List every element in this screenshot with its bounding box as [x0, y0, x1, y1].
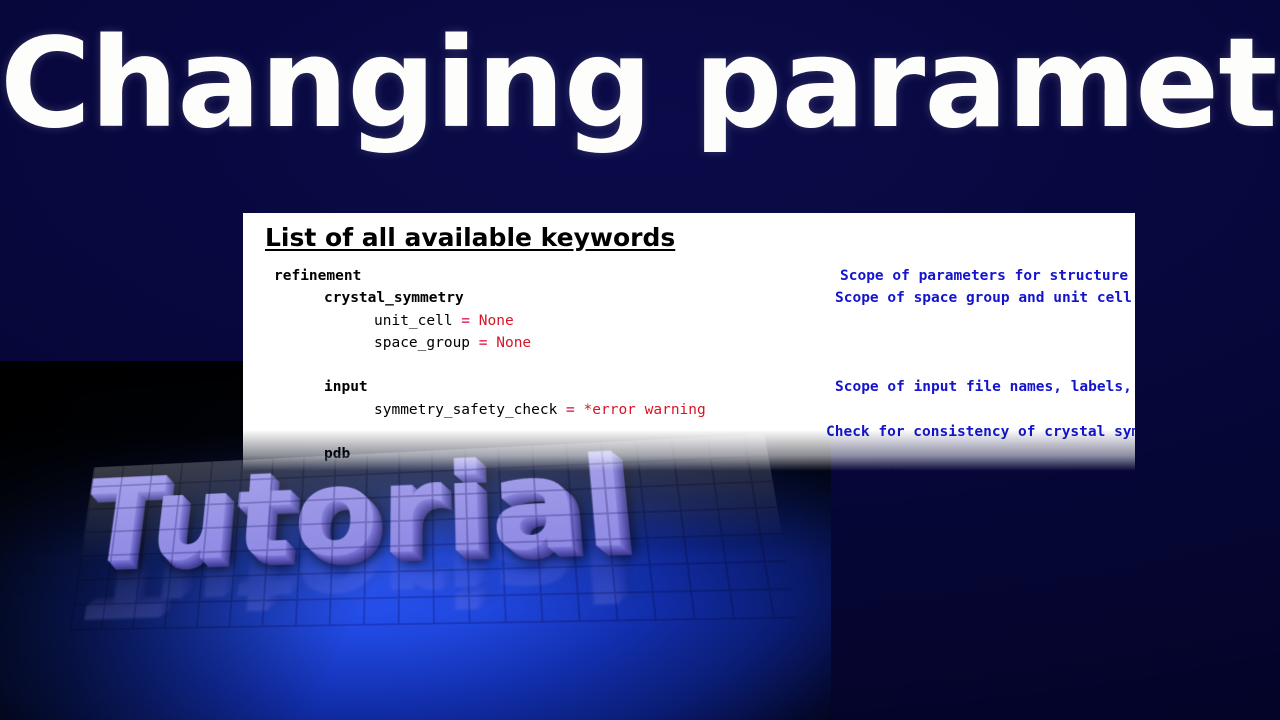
keyword-equals-sign: = — [503, 469, 529, 471]
keyword-row: space_group = None — [243, 332, 1135, 354]
keyword-value: *error warning — [584, 402, 706, 418]
keyword-entry: input — [324, 376, 368, 398]
keywords-screenshot-box: List of all available keywords refinemen… — [243, 213, 1135, 471]
keyword-name: space_group — [374, 335, 470, 351]
page-title: Changing parameters — [0, 22, 1280, 146]
keyword-description: Check for consistency of crystal symmetr… — [826, 421, 1135, 443]
keyword-row: symmetry_safety_check = *error warning — [243, 399, 1135, 421]
slide-root: Tutorial Tutorial Changing parameters Li… — [0, 0, 1280, 720]
keywords-heading: List of all available keywords — [265, 223, 675, 252]
keyword-equals-sign: = — [453, 313, 479, 329]
keyword-name: crystal_symmetry — [324, 290, 464, 306]
keyword-row: unit_cell = None — [243, 310, 1135, 332]
keyword-entry: unit_cell = None — [374, 310, 514, 332]
keyword-description: Scope of space group and unit cell param… — [835, 287, 1135, 309]
keyword-name: refinement — [274, 268, 361, 284]
keyword-row: Check for consistency of crystal symmetr… — [243, 421, 1135, 443]
keyword-entry: pdb — [324, 443, 350, 465]
keyword-description: Scope of input file names, labels, proce… — [835, 376, 1135, 398]
keyword-row: file_name = NoneModel file(s) name (PDB) — [243, 466, 1135, 471]
keyword-name: symmetry_safety_check — [374, 402, 557, 418]
keyword-equals-sign: = — [557, 402, 583, 418]
keyword-description: Scope of parameters for structure refine… — [840, 265, 1135, 287]
keyword-entry: symmetry_safety_check = *error warning — [374, 399, 706, 421]
keyword-value: None — [529, 469, 564, 471]
keyword-equals-sign: = — [470, 335, 496, 351]
keyword-entry: crystal_symmetry — [324, 287, 464, 309]
keyword-name: file_name — [424, 469, 503, 471]
keyword-name: input — [324, 379, 368, 395]
keywords-code-listing: refinementScope of parameters for struct… — [243, 265, 1135, 471]
keyword-name: unit_cell — [374, 313, 453, 329]
keyword-value: None — [496, 335, 531, 351]
keyword-row: pdb — [243, 443, 1135, 465]
keyword-entry: refinement — [274, 265, 361, 287]
keyword-row: crystal_symmetryScope of space group and… — [243, 287, 1135, 309]
keyword-row: inputScope of input file names, labels, … — [243, 376, 1135, 398]
keyword-description: Model file(s) name (PDB) — [826, 466, 1036, 471]
keyword-row — [243, 354, 1135, 376]
keyword-row: refinementScope of parameters for struct… — [243, 265, 1135, 287]
keyword-value: None — [479, 313, 514, 329]
keyword-entry: space_group = None — [374, 332, 531, 354]
keyword-name: pdb — [324, 446, 350, 462]
keyword-entry: file_name = None — [424, 466, 564, 471]
